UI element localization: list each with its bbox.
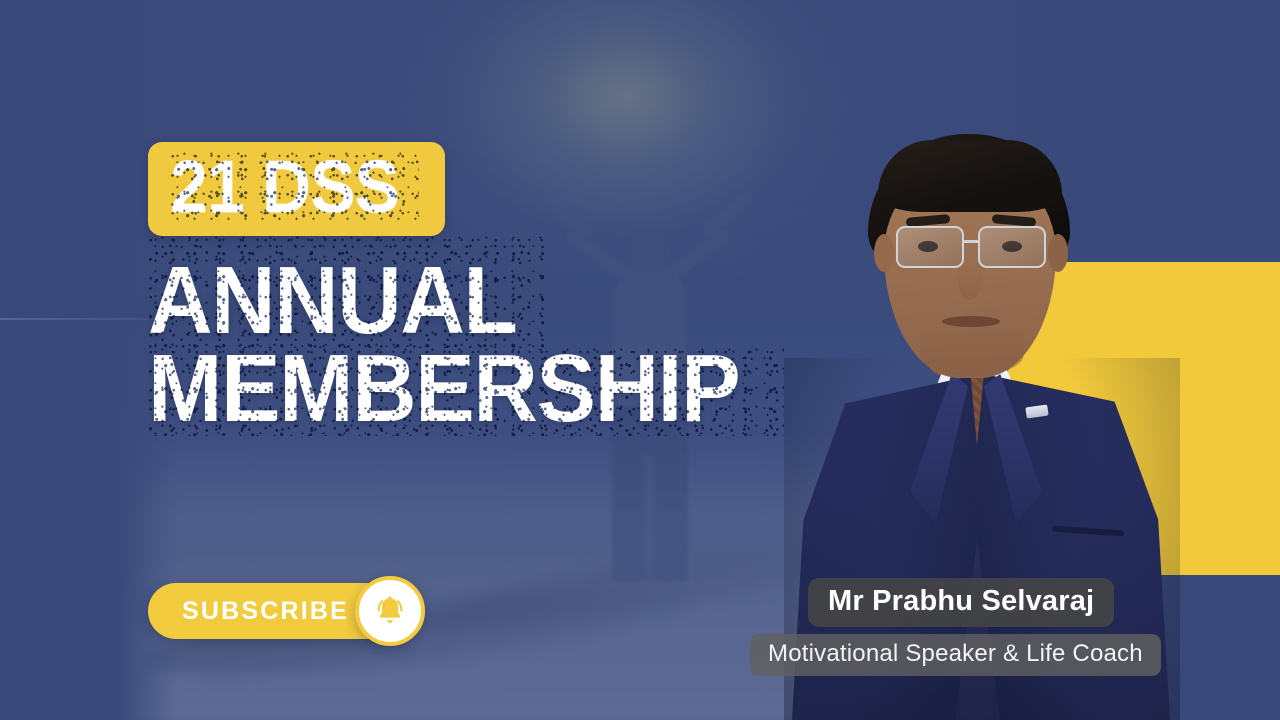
headline-line-2: MEMBERSHIP — [148, 342, 739, 436]
course-code-label: 21 DSS — [170, 152, 399, 222]
presenter-name-plate: Mr Prabhu Selvaraj — [808, 578, 1114, 627]
presenter-role: Motivational Speaker & Life Coach — [768, 640, 1143, 667]
headline-block: 21 DSS ANNUAL MEMBERSHIP — [148, 142, 748, 436]
course-code-badge: 21 DSS — [148, 142, 445, 236]
eyeglasses-left-lens — [896, 226, 964, 268]
left-navy-panel — [0, 0, 118, 720]
notification-bell-button[interactable] — [355, 576, 425, 646]
youtube-thumbnail: 21 DSS ANNUAL MEMBERSHIP SUBSCRIBE Mr Pr… — [0, 0, 1280, 720]
presenter-role-plate: Motivational Speaker & Life Coach — [750, 634, 1161, 676]
headline-line-1: ANNUAL — [148, 254, 517, 348]
presenter-name: Mr Prabhu Selvaraj — [828, 585, 1094, 617]
bell-icon — [370, 591, 410, 631]
subscribe-label: SUBSCRIBE — [182, 597, 349, 626]
eyeglasses-right-lens — [978, 226, 1046, 268]
